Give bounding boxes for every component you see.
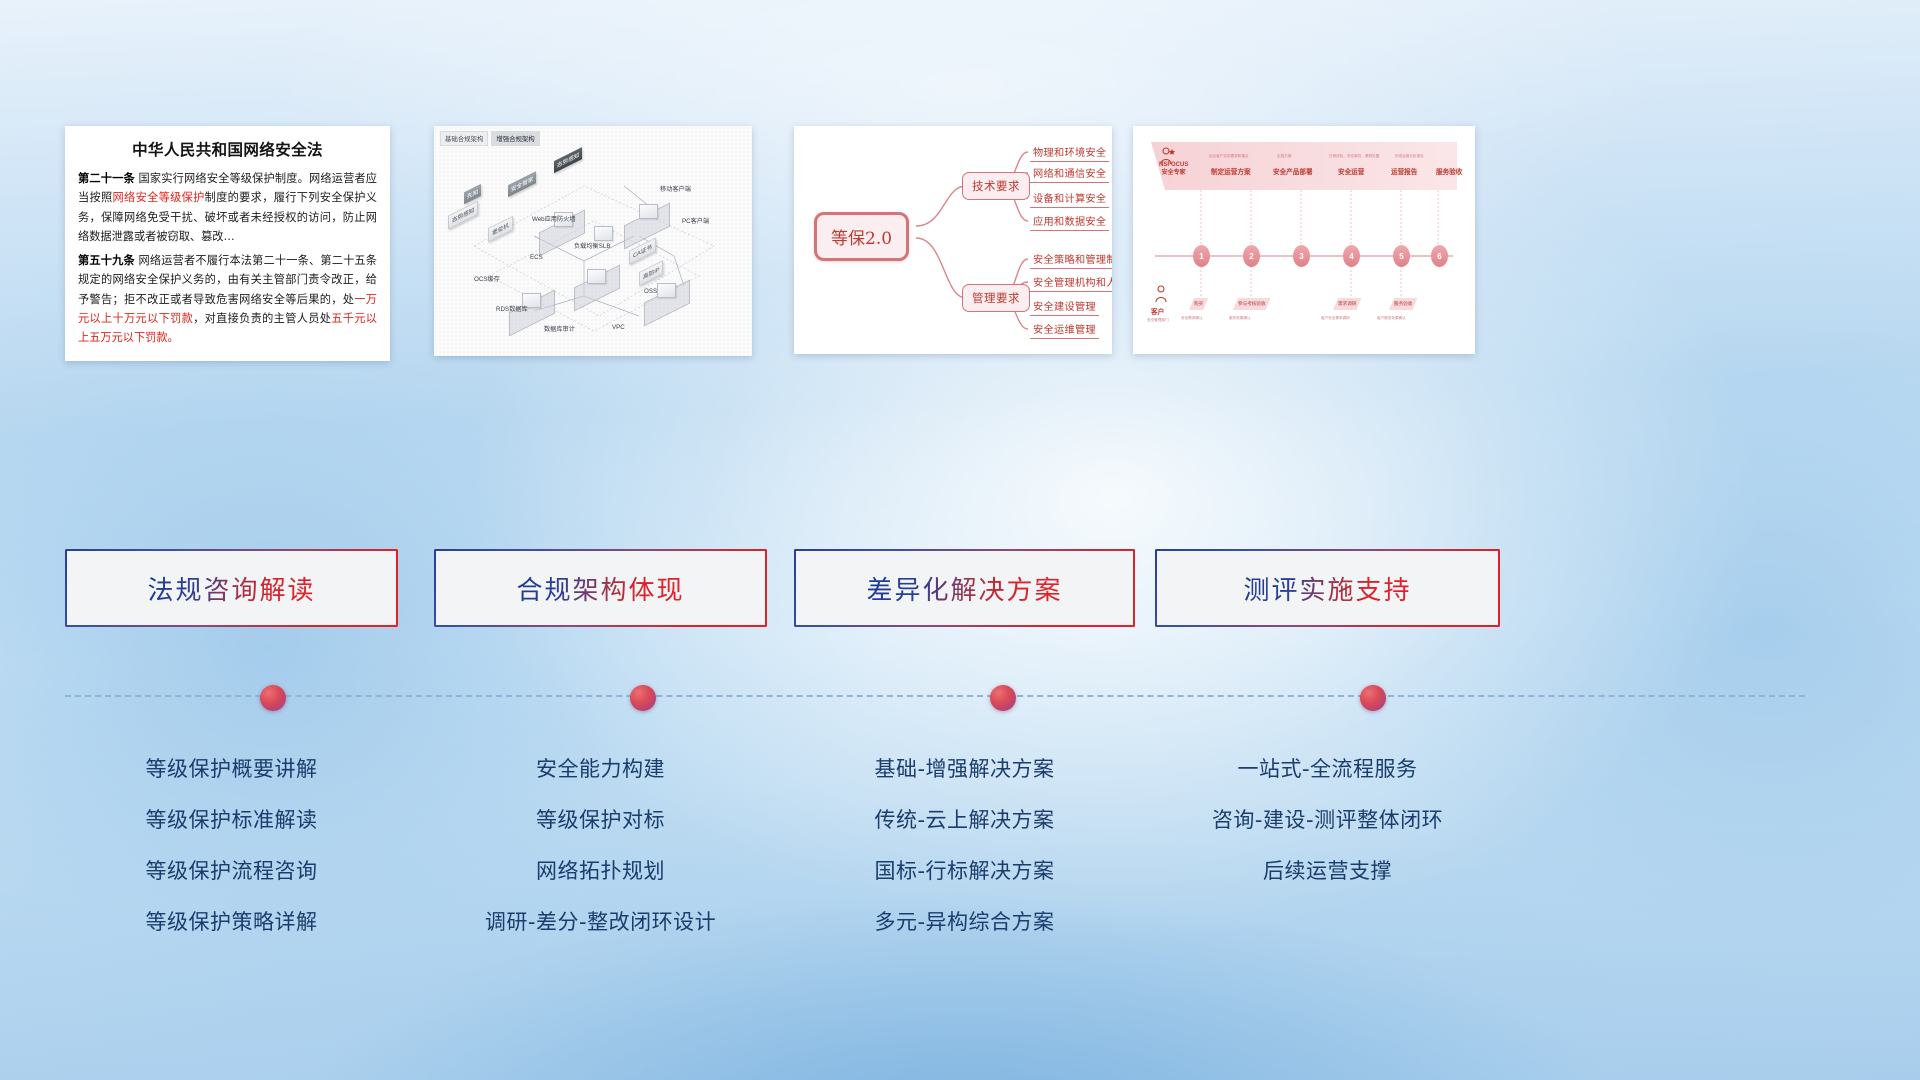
list-item: 基础-增强解决方案 [794, 744, 1135, 795]
column-evaluation-support: 一站式-全流程服务 咨询-建设-测评整体闭环 后续运营支撑 [1155, 744, 1500, 897]
title-box-evaluation-support[interactable]: 测评实施支持 [1155, 549, 1500, 627]
mindmap-leaf: 安全运维管理 [1030, 321, 1099, 339]
list-item: 咨询-建设-测评整体闭环 [1155, 795, 1500, 846]
list-item: 安全能力构建 [434, 744, 767, 795]
roadmap-brand: NSFOCUS 安全专家 [1159, 162, 1188, 177]
roadmap-step-sub: 实施方案 [1277, 154, 1291, 159]
arch-label: RDS数据库 [496, 304, 528, 313]
roadmap-bottom-tag-sub: 客户服务效果确认 [1377, 316, 1406, 321]
mindmap-leaf: 安全管理机构和人员 [1030, 274, 1112, 292]
list-item: 等级保护策略详解 [65, 897, 398, 948]
arch-label: 负载均衡SLB [574, 241, 610, 250]
roadmap-step-marker: 5 [1393, 245, 1410, 267]
list-item: 等级保护标准解读 [65, 795, 398, 846]
list-item: 等级保护流程咨询 [65, 846, 398, 897]
roadmap-step-sub: 结合客户实际需求和痛点 [1209, 154, 1249, 159]
roadmap-bottom-tag: 需求调研 [1333, 298, 1361, 310]
column-compliance-architecture: 安全能力构建 等级保护对标 网络拓扑规划 调研-差分-整改闭环设计 [434, 744, 767, 948]
title-box-differentiated-solution[interactable]: 差异化解决方案 [794, 549, 1135, 627]
arch-label: OCS缓存 [474, 274, 500, 283]
mindmap-branch-technical: 技术要求 [962, 172, 1030, 200]
arch-label: VPC [612, 324, 625, 331]
roadmap-customer-role: 客户 [1151, 306, 1164, 316]
column-list: 等级保护概要讲解 等级保护标准解读 等级保护流程咨询 等级保护策略详解 [65, 744, 398, 948]
timeline-dot-3 [990, 685, 1016, 711]
list-item: 多元-异构综合方案 [794, 897, 1135, 948]
roadmap-bottom-tag-title: 服务验收 [1394, 301, 1412, 306]
list-item: 传统-云上解决方案 [794, 795, 1135, 846]
law-title: 中华人民共和国网络安全法 [78, 138, 377, 160]
timeline-dot-1 [260, 685, 286, 711]
arch-cube [594, 226, 613, 241]
reference-cards-row: 中华人民共和国网络安全法 第二十一条 国家实行网络安全等级保护制度。网络运营者应… [0, 126, 1920, 366]
law-article-21-label: 第二十一条 [78, 172, 135, 185]
law-article-59-label: 第五十九条 [78, 254, 135, 267]
roadmap-step-marker: 1 [1193, 245, 1210, 267]
column-differentiated-solution: 基础-增强解决方案 传统-云上解决方案 国标-行标解决方案 多元-异构综合方案 [794, 744, 1135, 948]
timeline-dot-2 [630, 685, 656, 711]
roadmap-bottom-tag-sub: 服务效果确认 [1229, 316, 1251, 321]
title-label: 法规咨询解读 [147, 570, 315, 607]
title-label: 测评实施支持 [1243, 570, 1411, 607]
card-cybersecurity-law[interactable]: 中华人民共和国网络安全法 第二十一条 国家实行网络安全等级保护制度。网络运营者应… [65, 126, 390, 361]
list-item: 等级保护对标 [434, 795, 767, 846]
arch-label: OSS [644, 288, 657, 295]
arch-cube [657, 283, 676, 298]
roadmap-bottom-tag-title: 参与考核验收 [1238, 301, 1266, 306]
mindmap-leaf: 网络和通信安全 [1030, 165, 1109, 183]
roadmap-step-title: 服务验收 [1436, 166, 1462, 176]
list-item: 等级保护概要讲解 [65, 744, 398, 795]
law-article-21: 第二十一条 国家实行网络安全等级保护制度。网络运营者应当按照网络安全等级保护制度… [78, 169, 377, 246]
card-service-roadmap[interactable]: NSFOCUS 安全专家 结合客户实际需求和痛点 制定运营方案 实施方案 安全产… [1133, 126, 1475, 354]
arch-cube [587, 269, 606, 284]
title-box-regulation-consulting[interactable]: 法规咨询解读 [65, 549, 398, 627]
arch-label: PC客户端 [682, 216, 709, 225]
mindmap-leaf: 安全建设管理 [1030, 298, 1099, 316]
section-titles-row: 法规咨询解读 合规架构体现 差异化解决方案 测评实施支持 [0, 549, 1920, 629]
column-list: 一站式-全流程服务 咨询-建设-测评整体闭环 后续运营支撑 [1155, 744, 1500, 897]
card-dengbao-mindmap[interactable]: 等保2.0 技术要求 管理要求 物理和环境安全 网络和通信安全 设备和计算安全 … [794, 126, 1112, 354]
roadmap-step-marker: 3 [1293, 245, 1310, 267]
arch-cube [639, 204, 658, 219]
list-item: 国标-行标解决方案 [794, 846, 1135, 897]
roadmap-step-title: 制定运营方案 [1211, 166, 1251, 176]
roadmap-bottom-tag: 服务验收 [1389, 298, 1417, 310]
mindmap-leaf: 设备和计算安全 [1030, 190, 1109, 208]
roadmap-brand-name: NSFOCUS [1159, 162, 1188, 170]
roadmap-step-sub: 日常巡检、安全事件、漏洞处置 [1329, 154, 1379, 159]
mindmap-root: 等保2.0 [814, 212, 909, 261]
mindmap-leaf: 应用和数据安全 [1030, 213, 1109, 231]
roadmap-step-title: 安全产品部署 [1273, 166, 1313, 176]
roadmap-step-marker: 2 [1243, 245, 1260, 267]
list-item: 网络拓扑规划 [434, 846, 767, 897]
arch-label: 移动客户端 [660, 184, 691, 193]
roadmap-bottom-tag-title: 购买 [1194, 301, 1203, 306]
roadmap-step-marker: 4 [1343, 245, 1360, 267]
title-label: 合规架构体现 [516, 570, 684, 607]
column-list: 基础-增强解决方案 传统-云上解决方案 国标-行标解决方案 多元-异构综合方案 [794, 744, 1135, 948]
law-article-59: 第五十九条 网络运营者不履行本法第二十一条、第二十五条规定的网络安全保护义务的，… [78, 251, 377, 347]
arch-label: 数据库审计 [544, 324, 575, 333]
arch-label: ECS [530, 254, 543, 261]
column-regulation-consulting: 等级保护概要讲解 等级保护标准解读 等级保护流程咨询 等级保护策略详解 [65, 744, 398, 948]
roadmap-bottom-tag-sub: 客户安全需求调研 [1321, 316, 1350, 321]
roadmap-brand-sub: 安全专家 [1159, 170, 1188, 178]
list-item: 后续运营支撑 [1155, 846, 1500, 897]
card-compliance-architecture[interactable]: 基础合规架构 增强合规架构 [434, 126, 752, 356]
roadmap-step-marker: 6 [1431, 245, 1448, 267]
list-item: 调研-差分-整改闭环设计 [434, 897, 767, 948]
roadmap-step-title: 运营报告 [1391, 166, 1417, 176]
roadmap-bottom-tag: 参与考核验收 [1233, 298, 1271, 310]
customer-person-icon [1153, 284, 1171, 304]
list-item: 一站式-全流程服务 [1155, 744, 1500, 795]
mindmap-leaf: 物理和环境安全 [1030, 144, 1109, 162]
title-box-compliance-architecture[interactable]: 合规架构体现 [434, 549, 767, 627]
roadmap-bottom-tag-title: 需求调研 [1338, 301, 1356, 306]
roadmap-customer-sub: 安全管理部门 [1147, 318, 1169, 323]
arch-label: Web应用防火墙 [532, 214, 576, 223]
roadmap-step-sub: 形成运营分析报告 [1395, 154, 1424, 159]
roadmap-bottom-tag-sub: 安全需求确认 [1181, 316, 1203, 321]
mindmap-branch-management: 管理要求 [962, 284, 1030, 312]
timeline-track [65, 695, 1805, 701]
timeline-dot-4 [1360, 685, 1386, 711]
mindmap-leaf: 安全策略和管理制度 [1030, 251, 1112, 269]
law-article-21-highlight: 网络安全等级保护 [113, 191, 205, 204]
law-article-59-text-b: ，对直接负责的主管人员处 [193, 312, 331, 325]
roadmap-step-title: 安全运营 [1338, 166, 1364, 176]
title-label: 差异化解决方案 [866, 570, 1062, 607]
column-list: 安全能力构建 等级保护对标 网络拓扑规划 调研-差分-整改闭环设计 [434, 744, 767, 948]
